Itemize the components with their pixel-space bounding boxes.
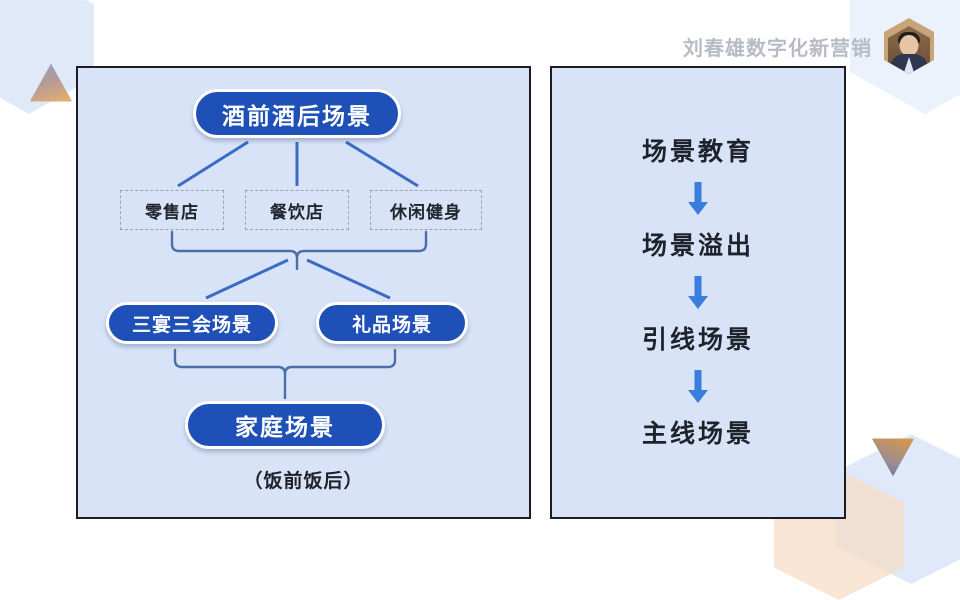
flow-step-lead[interactable]: 引线场景 (642, 325, 754, 355)
triangle-decoration-top-left (28, 62, 74, 104)
node-scene-gift[interactable]: 礼品场景 (316, 302, 468, 344)
node-scene-family[interactable]: 家庭场景 (185, 401, 385, 449)
flow-step-education[interactable]: 场景教育 (642, 137, 754, 167)
down-arrow-icon (687, 182, 709, 216)
node-root-scene[interactable]: 酒前酒后场景 (193, 89, 401, 138)
avatar-portrait (888, 26, 930, 74)
page-title: 刘春雄数字化新营销 (683, 32, 872, 61)
triangle-decoration-bottom-right (870, 436, 916, 478)
down-arrow-icon (687, 276, 709, 310)
node-channel-leisure-fitness[interactable]: 休闲健身 (370, 190, 482, 230)
avatar-face (900, 35, 919, 56)
scene-hierarchy-panel: 酒前酒后场景 零售店 餐饮店 休闲健身 三宴三会场景 礼品场景 家庭场景 （饭前… (76, 66, 531, 519)
node-channel-restaurant[interactable]: 餐饮店 (245, 190, 349, 230)
node-channel-retail[interactable]: 零售店 (120, 190, 224, 230)
down-arrow-icon (687, 370, 709, 404)
flow-step-main[interactable]: 主线场景 (642, 419, 754, 449)
flow-steps: 场景教育 场景溢出 引线场景 主线场景 (552, 68, 844, 517)
node-scene-banquet[interactable]: 三宴三会场景 (106, 302, 278, 344)
avatar (884, 18, 934, 74)
hexagon-decoration-bottom-right (836, 434, 960, 584)
scene-flow-panel: 场景教育 场景溢出 引线场景 主线场景 (550, 66, 846, 519)
flow-step-overflow[interactable]: 场景溢出 (642, 231, 754, 261)
